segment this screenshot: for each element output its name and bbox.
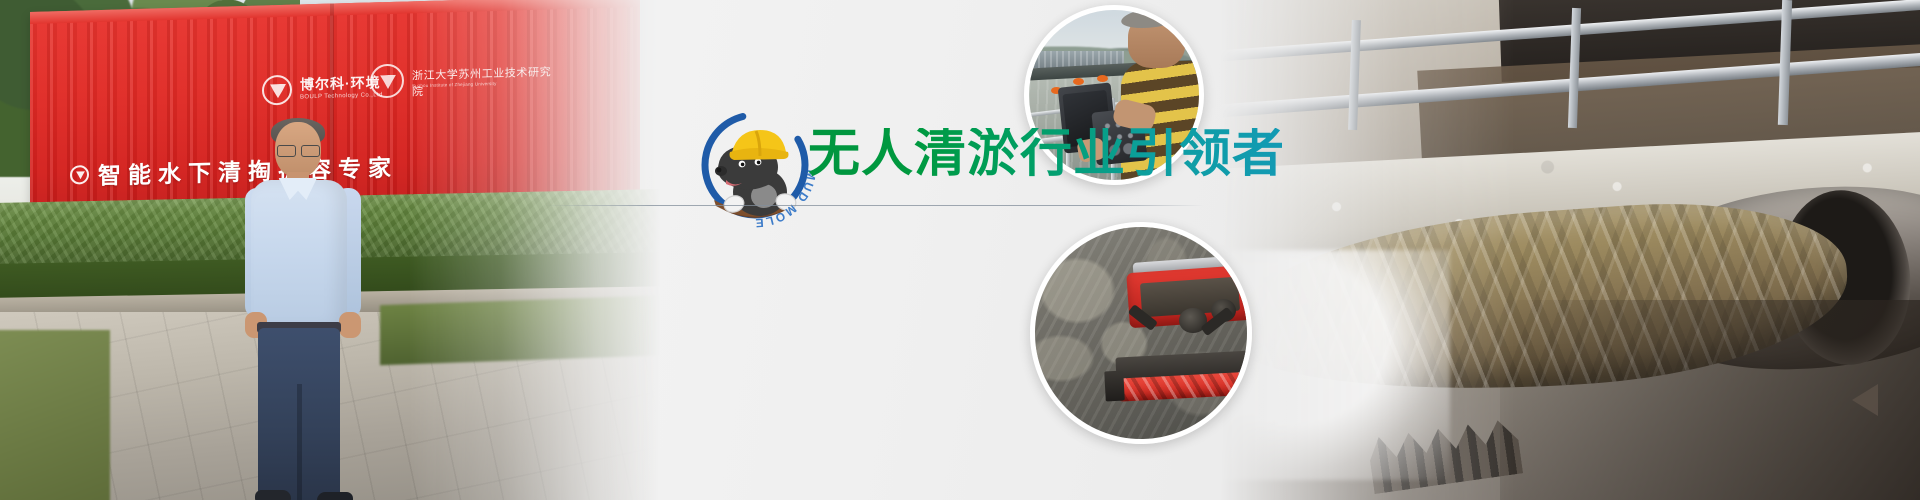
divider <box>544 205 1204 206</box>
container-partner-logo: 浙江大学苏州工业技术研究院 Suzhou Institute of Zhejia… <box>370 59 560 104</box>
logo-mole-pupil-right <box>757 161 761 165</box>
partner-mark-icon <box>370 64 404 99</box>
c2-auger-gearbox <box>1104 371 1125 402</box>
person-shirt <box>251 180 347 330</box>
grass-left <box>0 330 110 500</box>
logo-mole-pupil-left <box>741 163 745 167</box>
center-content: MUD MOLE 无人清淤行业引领者 <box>660 0 1040 500</box>
person-figure <box>243 122 363 500</box>
person-shoe-left <box>255 490 291 500</box>
grass-right <box>380 295 660 365</box>
right-photo <box>1220 0 1920 500</box>
dredging-robot-photo <box>1030 222 1252 444</box>
left-photo: 博尔科·环境 BOULP Technology Co.,Ltd 浙江大学苏州工业… <box>0 0 660 500</box>
c1-buoy-2 <box>1097 75 1108 82</box>
mud-mole-logo: MUD MOLE <box>690 100 820 230</box>
slogan-bullet-icon <box>70 165 89 185</box>
page-title: 无人清淤行业引领者 <box>808 128 1285 180</box>
person-shoe-right <box>317 492 353 500</box>
arrow-icon <box>1852 384 1878 416</box>
hero-banner: 博尔科·环境 BOULP Technology Co.,Ltd 浙江大学苏州工业… <box>0 0 1920 500</box>
container-brand-cn: 博尔科·环境 <box>300 72 381 94</box>
water-spray <box>1220 250 1450 480</box>
person-hand-right <box>339 312 361 338</box>
boulp-mark-icon <box>262 75 292 106</box>
person-pants <box>258 328 340 500</box>
logo-mole-nose <box>717 168 722 173</box>
glasses-icon <box>277 145 320 155</box>
